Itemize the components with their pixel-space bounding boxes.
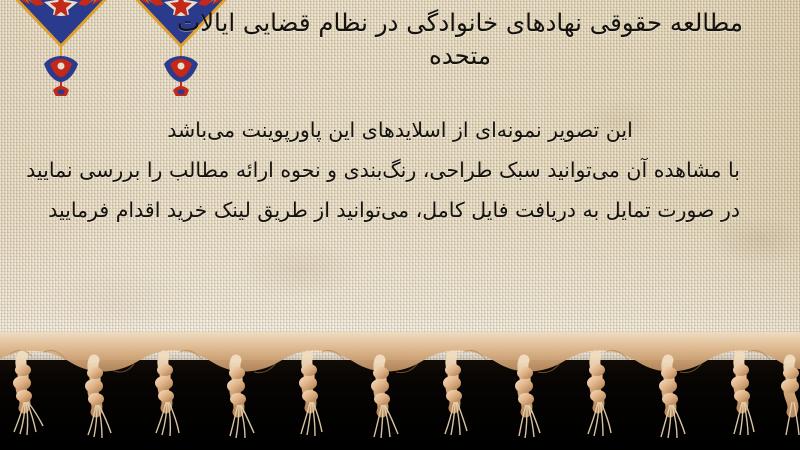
- carpet-knot-fringe: [0, 330, 800, 450]
- body-line-1: این تصویر نمونه‌ای از اسلایدهای این پاور…: [60, 110, 740, 150]
- slide-body-text: این تصویر نمونه‌ای از اسلایدهای این پاور…: [60, 110, 740, 230]
- slide-title: مطالعه حقوقی نهادهای خانوادگی در نظام قض…: [150, 6, 770, 72]
- body-line-2: با مشاهده آن می‌توانید سبک طراحی، رنگ‌بن…: [60, 150, 740, 190]
- presentation-slide: مطالعه حقوقی نهادهای خانوادگی در نظام قض…: [0, 0, 800, 450]
- body-line-3: در صورت تمایل به دریافت فایل کامل، می‌تو…: [60, 190, 740, 230]
